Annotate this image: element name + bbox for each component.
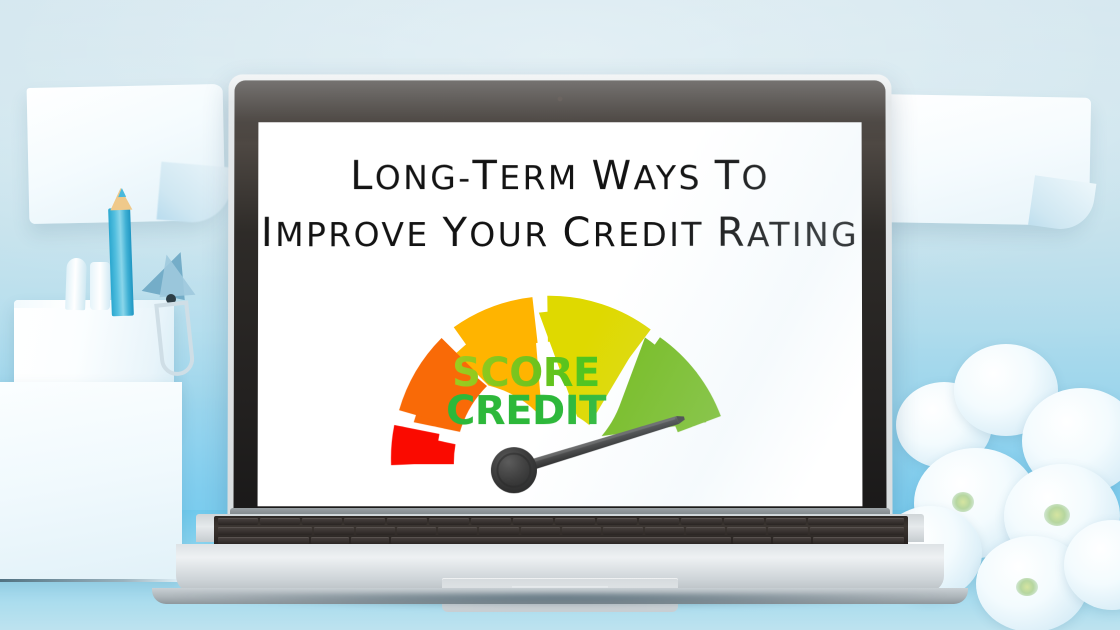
key[interactable] [513,518,553,525]
key[interactable] [733,537,771,544]
white-tube-item [65,258,87,311]
headline-line-2: IMPROVE YOUR CREDIT RATING [258,205,862,262]
key[interactable] [727,527,766,534]
screen-bezel: LONG-TERM WAYS TO IMPROVE YOUR CREDIT RA… [233,80,886,530]
key[interactable] [521,527,560,534]
key[interactable] [724,518,764,525]
key[interactable] [344,518,384,525]
key-enter[interactable] [810,527,904,534]
key-backspace[interactable] [808,518,904,525]
key-row [218,537,904,544]
key[interactable] [429,518,469,525]
laptop: LONG-TERM WAYS TO IMPROVE YOUR CREDIT RA… [118,74,1002,630]
key-row [218,527,904,534]
scene-root: LONG-TERM WAYS TO IMPROVE YOUR CREDIT RA… [0,0,1120,630]
white-container-item [90,262,110,310]
key[interactable] [645,527,684,534]
key[interactable] [597,518,637,525]
key[interactable] [562,527,601,534]
flower-core-2 [1044,504,1070,526]
key[interactable] [438,527,477,534]
webcam-icon [558,96,563,101]
key[interactable] [302,518,342,525]
key[interactable] [639,518,679,525]
key[interactable] [555,518,595,525]
key[interactable] [479,527,518,534]
headline-line-1: LONG-TERM WAYS TO [258,148,862,205]
credit-score-gauge: SCORE CREDIT [374,268,747,494]
key[interactable] [351,537,389,544]
flower-core-3 [1016,578,1038,596]
laptop-base [118,514,1002,606]
key[interactable] [387,518,427,525]
key-space[interactable] [391,537,732,544]
keyboard[interactable] [214,516,908,546]
laptop-deck [176,544,944,592]
key-grid [218,518,904,544]
laptop-screen: LONG-TERM WAYS TO IMPROVE YOUR CREDIT RA… [258,122,863,506]
key-shift-right[interactable] [813,537,904,544]
key[interactable] [356,527,395,534]
key[interactable] [773,537,811,544]
key[interactable] [471,518,511,525]
page-title: LONG-TERM WAYS TO IMPROVE YOUR CREDIT RA… [258,148,862,261]
gauge-label-credit: CREDIT [446,388,607,434]
key[interactable] [603,527,642,534]
key[interactable] [314,527,353,534]
key-shift-left[interactable] [218,537,309,544]
key[interactable] [218,518,258,525]
laptop-drop-shadow [124,594,996,614]
key[interactable] [397,527,436,534]
gauge-svg: SCORE CREDIT [374,268,747,494]
laptop-lid: LONG-TERM WAYS TO IMPROVE YOUR CREDIT RA… [227,74,892,534]
key[interactable] [686,527,725,534]
key[interactable] [681,518,721,525]
key[interactable] [311,537,349,544]
key[interactable] [768,527,807,534]
key-row [218,518,904,525]
key[interactable] [766,518,806,525]
key-tab[interactable] [218,527,312,534]
key[interactable] [260,518,300,525]
